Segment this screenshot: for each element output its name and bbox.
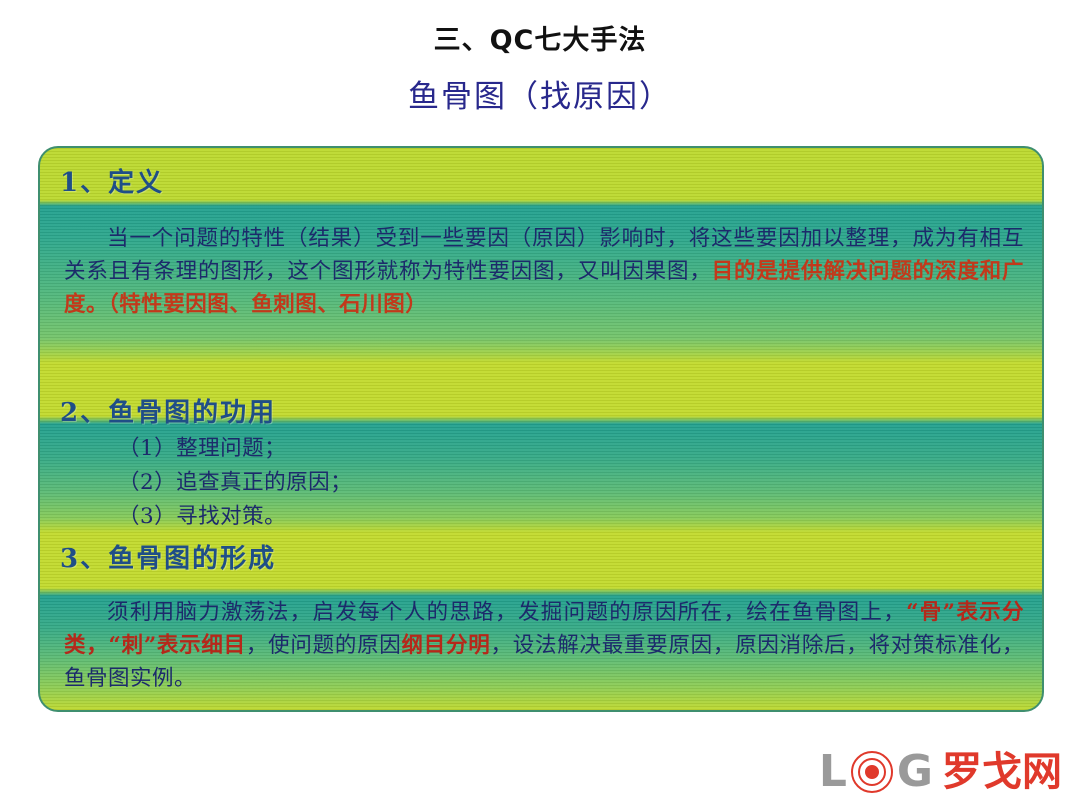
function-list: （1）整理问题； （2）追查真正的原因； （3）寻找对策。: [118, 432, 352, 534]
target-rings-icon: [851, 751, 893, 793]
site-logo: L G 罗戈网: [819, 750, 1062, 794]
content-card: 1、定义 当一个问题的特性（结果）受到一些要因（原因）影响时，将这些要因加以整理…: [38, 146, 1044, 712]
page-subtitle: 鱼骨图（找原因）: [0, 56, 1080, 114]
slide-root: 三、QC七大手法 鱼骨图（找原因） 1、定义 当一个问题的特性（结果）受到一些要…: [0, 0, 1080, 114]
list-item: （2）追查真正的原因；: [118, 466, 352, 500]
formation-text-normal-1: 须利用脑力激荡法，启发每个人的思路，发掘问题的原因所在，绘在鱼骨图上，: [107, 600, 906, 625]
formation-paragraph: 须利用脑力激荡法，启发每个人的思路，发掘问题的原因所在，绘在鱼骨图上，“骨”表示…: [64, 596, 1024, 695]
formation-text-emphasis-2: 纲目分明: [402, 633, 491, 658]
definition-paragraph: 当一个问题的特性（结果）受到一些要因（原因）影响时，将这些要因加以整理，成为有相…: [64, 222, 1024, 321]
list-item: （3）寻找对策。: [118, 500, 352, 534]
formation-text-normal-2: ，使问题的原因: [246, 633, 402, 658]
page-title: 三、QC七大手法: [0, 0, 1080, 56]
logo-chinese-text: 罗戈网: [942, 752, 1062, 792]
logo-letter-g: G: [897, 750, 933, 794]
list-item: （1）整理问题；: [118, 432, 352, 466]
section-heading-function: 2、鱼骨图的功用: [60, 392, 276, 429]
section-heading-definition: 1、定义: [60, 162, 164, 199]
logo-letter-l: L: [819, 750, 847, 794]
section-heading-formation: 3、鱼骨图的形成: [60, 538, 276, 575]
